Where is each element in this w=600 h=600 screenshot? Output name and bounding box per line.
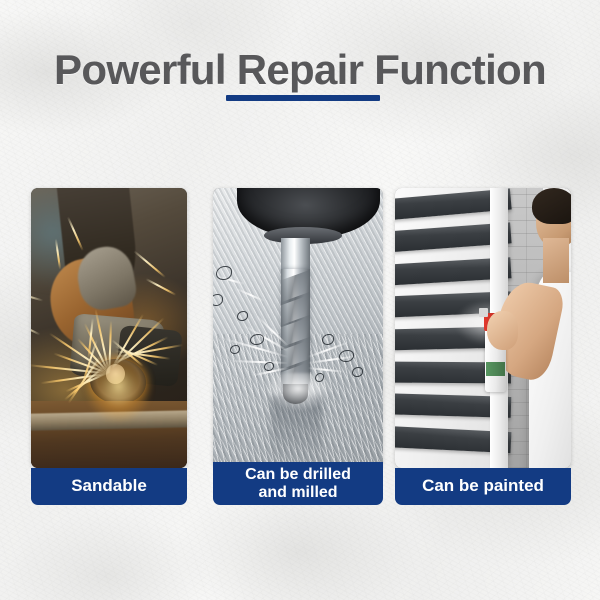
feature-card-painted[interactable] [395,188,571,468]
feature-card-drilled-milled[interactable] [213,188,383,468]
caption-line-2: and milled [258,484,337,501]
grinder-sparks-photo [31,188,187,468]
feature-card-sandable[interactable] [31,188,187,468]
product-feature-banner: Powerful Repair Function [0,0,600,600]
title-divider [226,95,380,101]
feature-label-painted: Can be painted [395,468,571,505]
page-title: Powerful Repair Function [0,46,600,94]
spray-paint-photo [395,188,571,468]
caption-line-1: Can be drilled [245,466,351,483]
drill-bit-photo [213,188,383,468]
feature-label-sandable: Sandable [31,468,187,505]
feature-label-drilled-milled: Can be drilled and milled [213,462,383,505]
